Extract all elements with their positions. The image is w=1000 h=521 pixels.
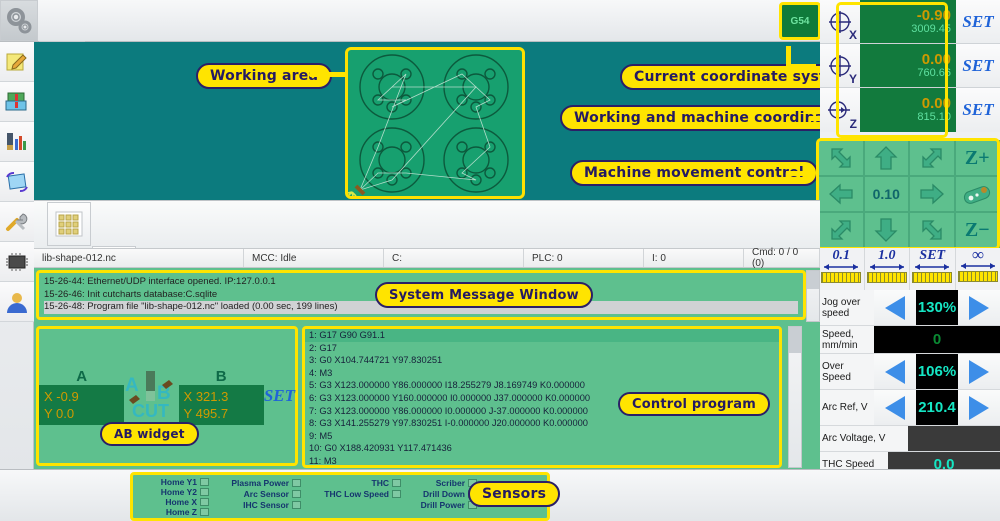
callout-ab-widget: AB widget bbox=[100, 422, 199, 446]
crosshair-y-icon: Y bbox=[820, 44, 860, 87]
callout-control-program: Control program bbox=[618, 392, 770, 416]
set-z-button[interactable]: SET bbox=[956, 88, 1000, 132]
speed-value: 0 bbox=[874, 326, 1000, 353]
sensor-item[interactable]: Home Z bbox=[137, 507, 209, 517]
current-cs-label: G54 bbox=[791, 16, 810, 27]
jog-over-speed-increase-button[interactable] bbox=[958, 290, 1000, 325]
crosshair-x-icon: X bbox=[820, 0, 860, 43]
step-continuous-button[interactable]: ∞ bbox=[955, 248, 1000, 290]
sensor-led bbox=[200, 488, 209, 496]
status-bar: lib-shape-012.nc MCC: Idle C: PLC: 0 I: … bbox=[34, 248, 820, 268]
ab-b-y: Y 495.7 bbox=[184, 405, 259, 422]
axis-label-y: Y bbox=[849, 72, 857, 86]
sidebar-item-tools[interactable] bbox=[0, 202, 34, 242]
ab-a-values: X -0.9 Y 0.0 bbox=[39, 385, 124, 425]
status-i: I: 0 bbox=[644, 249, 744, 267]
sensor-item[interactable]: Arc Sensor bbox=[209, 488, 301, 499]
program-line[interactable]: 10: G0 X188.420931 Y117.471436 bbox=[305, 442, 779, 455]
left-sidebar bbox=[0, 42, 34, 469]
sensor-item[interactable]: Drill Power bbox=[401, 499, 477, 510]
note-pencil-icon bbox=[5, 51, 29, 73]
grid-view-button[interactable] bbox=[47, 202, 91, 246]
machine-coord-x: 3009.45 bbox=[911, 23, 951, 36]
param-label-arc-ref: Arc Ref, V bbox=[818, 390, 874, 425]
sensor-led bbox=[392, 490, 401, 498]
sensor-column-plasma: Plasma Power Arc Sensor IHC Sensor bbox=[209, 477, 301, 516]
ab-b-values: X 321.3 Y 495.7 bbox=[179, 385, 264, 425]
over-speed-value[interactable]: 106% bbox=[916, 354, 958, 389]
working-area-highlight[interactable] bbox=[345, 47, 525, 199]
jog-up-button[interactable] bbox=[864, 140, 910, 176]
books-icon bbox=[4, 91, 30, 113]
param-label-arc-voltage: Arc Voltage, V bbox=[818, 426, 908, 451]
parameters-panel: Jog over speed 130% Speed, mm/min 0 Over… bbox=[818, 290, 1000, 470]
work-coord-y: 0.00 bbox=[922, 52, 951, 67]
ruler-icon bbox=[958, 271, 998, 282]
sensor-led bbox=[292, 479, 301, 487]
sidebar-item-macro[interactable] bbox=[0, 162, 34, 202]
program-line[interactable]: 11: M3 bbox=[305, 455, 779, 468]
sensor-column-tools: Scriber Drill Down Drill Power bbox=[401, 477, 477, 516]
step-set-label: SET bbox=[919, 248, 945, 263]
param-row-speed: Speed, mm/min 0 bbox=[818, 326, 1000, 354]
callout-sensors: Sensors bbox=[468, 481, 560, 507]
work-coord-z: 0.00 bbox=[922, 96, 951, 111]
sensor-led bbox=[292, 501, 301, 509]
jog-up-right-button[interactable] bbox=[909, 140, 955, 176]
program-line[interactable]: 8: G3 X141.255279 Y97.830251 I-0.000000 … bbox=[305, 417, 779, 430]
sensor-item[interactable]: Drill Down bbox=[401, 488, 477, 499]
sensor-item[interactable]: Home Y1 bbox=[137, 477, 209, 487]
sensor-led bbox=[200, 508, 209, 516]
axis-value-z[interactable]: 0.00 815.10 bbox=[860, 88, 956, 132]
sidebar-item-controller[interactable] bbox=[0, 242, 34, 282]
arc-ref-value[interactable]: 210.4 bbox=[916, 390, 958, 425]
jog-pad: Z+ 0.10 Z− bbox=[818, 140, 1000, 248]
ab-cut-icon[interactable]: ABCUT bbox=[124, 369, 178, 423]
jog-left-button[interactable] bbox=[818, 176, 864, 212]
ab-set-button[interactable]: SET bbox=[264, 386, 295, 406]
param-row-arc-ref: Arc Ref, V 210.4 bbox=[818, 390, 1000, 426]
jog-z-up-button[interactable]: Z+ bbox=[955, 140, 1000, 176]
step-set-button[interactable]: SET bbox=[909, 248, 955, 290]
over-speed-increase-button[interactable] bbox=[958, 354, 1000, 389]
axis-row-x: X -0.90 3009.45 SET bbox=[820, 0, 1000, 44]
jog-over-speed-value[interactable]: 130% bbox=[916, 290, 958, 325]
coordinate-panel: X -0.90 3009.45 SET Y 0.00 760.66 SET Z … bbox=[820, 0, 1000, 140]
program-line[interactable]: 2: G17 bbox=[305, 342, 779, 355]
step-1-0-button[interactable]: 1.0 bbox=[864, 248, 910, 290]
work-coord-x: -0.90 bbox=[917, 8, 951, 23]
z-down-label: Z− bbox=[965, 219, 990, 242]
jog-step-label: 0.10 bbox=[873, 186, 900, 202]
part-preview bbox=[348, 50, 522, 196]
macro-card-icon bbox=[4, 171, 30, 193]
probe-icon[interactable] bbox=[955, 176, 1000, 212]
jog-up-left-button[interactable] bbox=[818, 140, 864, 176]
sensor-item[interactable]: Plasma Power bbox=[209, 477, 301, 488]
torch-bars-icon bbox=[4, 131, 30, 153]
param-label-speed: Speed, mm/min bbox=[818, 326, 874, 353]
callout-arrow-cs-horiz bbox=[786, 64, 816, 69]
set-y-button[interactable]: SET bbox=[956, 44, 1000, 87]
callout-arrow-working-area bbox=[310, 72, 346, 77]
callout-movement: Machine movement control bbox=[570, 160, 818, 186]
jog-step-value[interactable]: 0.10 bbox=[864, 176, 910, 212]
sidebar-item-notes[interactable] bbox=[0, 42, 34, 82]
wrench-screwdriver-icon bbox=[4, 211, 30, 233]
machine-coord-z: 815.10 bbox=[917, 111, 951, 124]
sidebar-item-library[interactable] bbox=[0, 82, 34, 122]
jog-right-button[interactable] bbox=[909, 176, 955, 212]
program-line[interactable]: 5: G3 X123.000000 Y86.000000 I18.255279 … bbox=[305, 379, 779, 392]
ruler-icon bbox=[912, 272, 952, 283]
sensor-item[interactable]: Home X bbox=[137, 497, 209, 507]
axis-value-x[interactable]: -0.90 3009.45 bbox=[860, 0, 956, 43]
settings-gears-icon[interactable] bbox=[0, 0, 38, 41]
status-plc: PLC: 0 bbox=[524, 249, 644, 267]
param-row-over-speed: Over Speed 106% bbox=[818, 354, 1000, 390]
axis-label-z: Z bbox=[850, 117, 857, 131]
ab-a-x: X -0.9 bbox=[44, 388, 119, 405]
arc-voltage-value bbox=[908, 426, 1000, 451]
jog-over-speed-decrease-button[interactable] bbox=[874, 290, 916, 325]
sensor-column-thc: THC THC Low Speed bbox=[301, 477, 401, 516]
axis-row-z: Z 0.00 815.10 SET bbox=[820, 88, 1000, 132]
user-icon bbox=[5, 291, 29, 313]
z-up-label: Z+ bbox=[965, 147, 990, 170]
sensor-led bbox=[200, 498, 209, 506]
axis-label-x: X bbox=[849, 28, 857, 42]
ab-b-x: X 321.3 bbox=[184, 388, 259, 405]
over-speed-decrease-button[interactable] bbox=[874, 354, 916, 389]
jog-z-down-button[interactable]: Z− bbox=[955, 212, 1000, 248]
status-file: lib-shape-012.nc bbox=[34, 249, 244, 267]
sidebar-item-cutcharts[interactable] bbox=[0, 122, 34, 162]
status-cmd: Cmd: 0 / 0 (0) bbox=[744, 249, 820, 267]
ruler-icon bbox=[821, 272, 861, 283]
sensor-led bbox=[200, 478, 209, 486]
crosshair-z-icon: Z bbox=[820, 88, 860, 132]
sensor-led bbox=[292, 490, 301, 498]
jog-down-button[interactable] bbox=[864, 212, 910, 248]
param-label-over-speed: Over Speed bbox=[818, 354, 874, 389]
ab-a-label: A bbox=[39, 368, 124, 385]
sensor-item[interactable]: Home Y2 bbox=[137, 487, 209, 497]
ruler-icon bbox=[867, 272, 907, 283]
axis-value-y[interactable]: 0.00 760.66 bbox=[860, 44, 956, 87]
set-x-button[interactable]: SET bbox=[956, 0, 1000, 43]
ab-b-label: B bbox=[179, 368, 264, 385]
param-row-arc-voltage: Arc Voltage, V bbox=[818, 426, 1000, 452]
callout-system-messages: System Message Window bbox=[375, 282, 593, 308]
program-line[interactable]: 1: G17 G90 G91.1 bbox=[305, 329, 779, 342]
mid-toolbar bbox=[34, 200, 820, 248]
ab-a-y: Y 0.0 bbox=[44, 405, 119, 422]
sensor-item[interactable]: THC bbox=[301, 477, 401, 488]
program-line[interactable]: 9: M5 bbox=[305, 430, 779, 443]
sidebar-item-user[interactable] bbox=[0, 282, 34, 322]
sensor-led bbox=[392, 479, 401, 487]
chip-icon bbox=[4, 251, 30, 273]
program-scrollbar[interactable] bbox=[788, 326, 802, 468]
arc-ref-decrease-button[interactable] bbox=[874, 390, 916, 425]
sensor-item[interactable]: Scriber bbox=[401, 477, 477, 488]
axis-row-y: Y 0.00 760.66 SET bbox=[820, 44, 1000, 88]
program-line[interactable]: 3: G0 X104.744721 Y97.830251 bbox=[305, 354, 779, 367]
step-0-1-button[interactable]: 0.1 bbox=[818, 248, 864, 290]
jog-down-right-button[interactable] bbox=[909, 212, 955, 248]
jog-down-left-button[interactable] bbox=[818, 212, 864, 248]
step-size-strip: 0.1 1.0 SET ∞ bbox=[818, 248, 1000, 290]
status-c: C: bbox=[384, 249, 524, 267]
param-label-jog-over-speed: Jog over speed bbox=[818, 290, 874, 325]
step-continuous-label: ∞ bbox=[972, 248, 984, 262]
program-line[interactable]: 4: M3 bbox=[305, 367, 779, 380]
machine-coord-y: 760.66 bbox=[917, 67, 951, 80]
svg-text:A: A bbox=[125, 375, 139, 396]
svg-text:CUT: CUT bbox=[132, 401, 169, 421]
sensor-item[interactable]: IHC Sensor bbox=[209, 499, 301, 510]
callout-arrow-movement bbox=[786, 171, 814, 176]
arc-ref-increase-button[interactable] bbox=[958, 390, 1000, 425]
current-cs-indicator[interactable]: G54 bbox=[779, 2, 821, 40]
step-0-1-label: 0.1 bbox=[833, 248, 851, 263]
status-mcc: MCC: Idle bbox=[244, 249, 384, 267]
step-1-0-label: 1.0 bbox=[878, 248, 896, 263]
sensor-item[interactable]: THC Low Speed bbox=[301, 488, 401, 499]
message-scrollbar[interactable] bbox=[806, 270, 820, 322]
param-row-jog-over-speed: Jog over speed 130% bbox=[818, 290, 1000, 326]
sensor-column-home: Home Y1 Home Y2 Home X Home Z bbox=[137, 477, 209, 516]
